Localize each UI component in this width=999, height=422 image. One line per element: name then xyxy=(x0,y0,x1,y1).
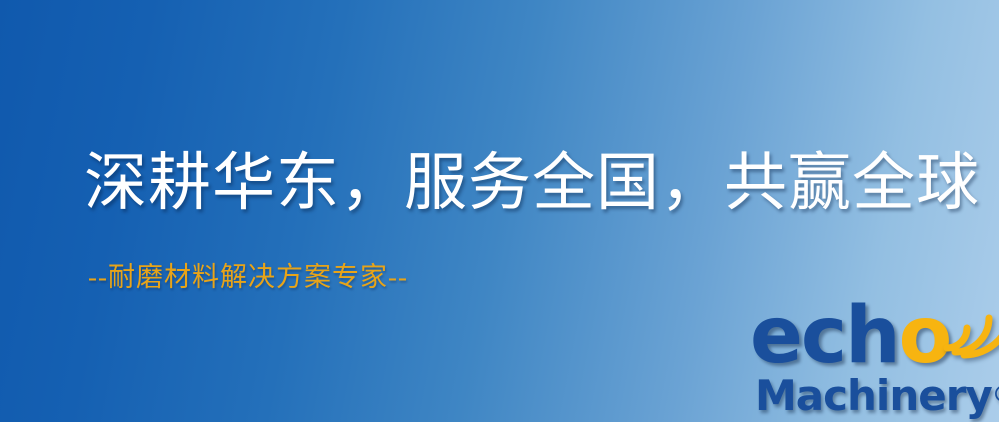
banner-headline: 深耕华东，服务全国，共赢全球 xyxy=(84,152,980,215)
logo-subtext: Machinery® xyxy=(755,372,999,419)
signal-arcs-icon xyxy=(941,298,999,356)
logo-wordmark: echo xyxy=(750,296,950,376)
logo-wordmark-primary: ech xyxy=(750,291,899,381)
registered-trademark-icon: ® xyxy=(992,382,999,408)
logo-subtext-label: Machinery xyxy=(755,371,992,420)
banner-subtitle: --耐磨材料解决方案专家-- xyxy=(88,264,408,291)
promo-banner: 深耕华东，服务全国，共赢全球 --耐磨材料解决方案专家-- echo Machi… xyxy=(0,0,999,422)
echo-machinery-logo: echo Machinery® xyxy=(745,296,999,422)
